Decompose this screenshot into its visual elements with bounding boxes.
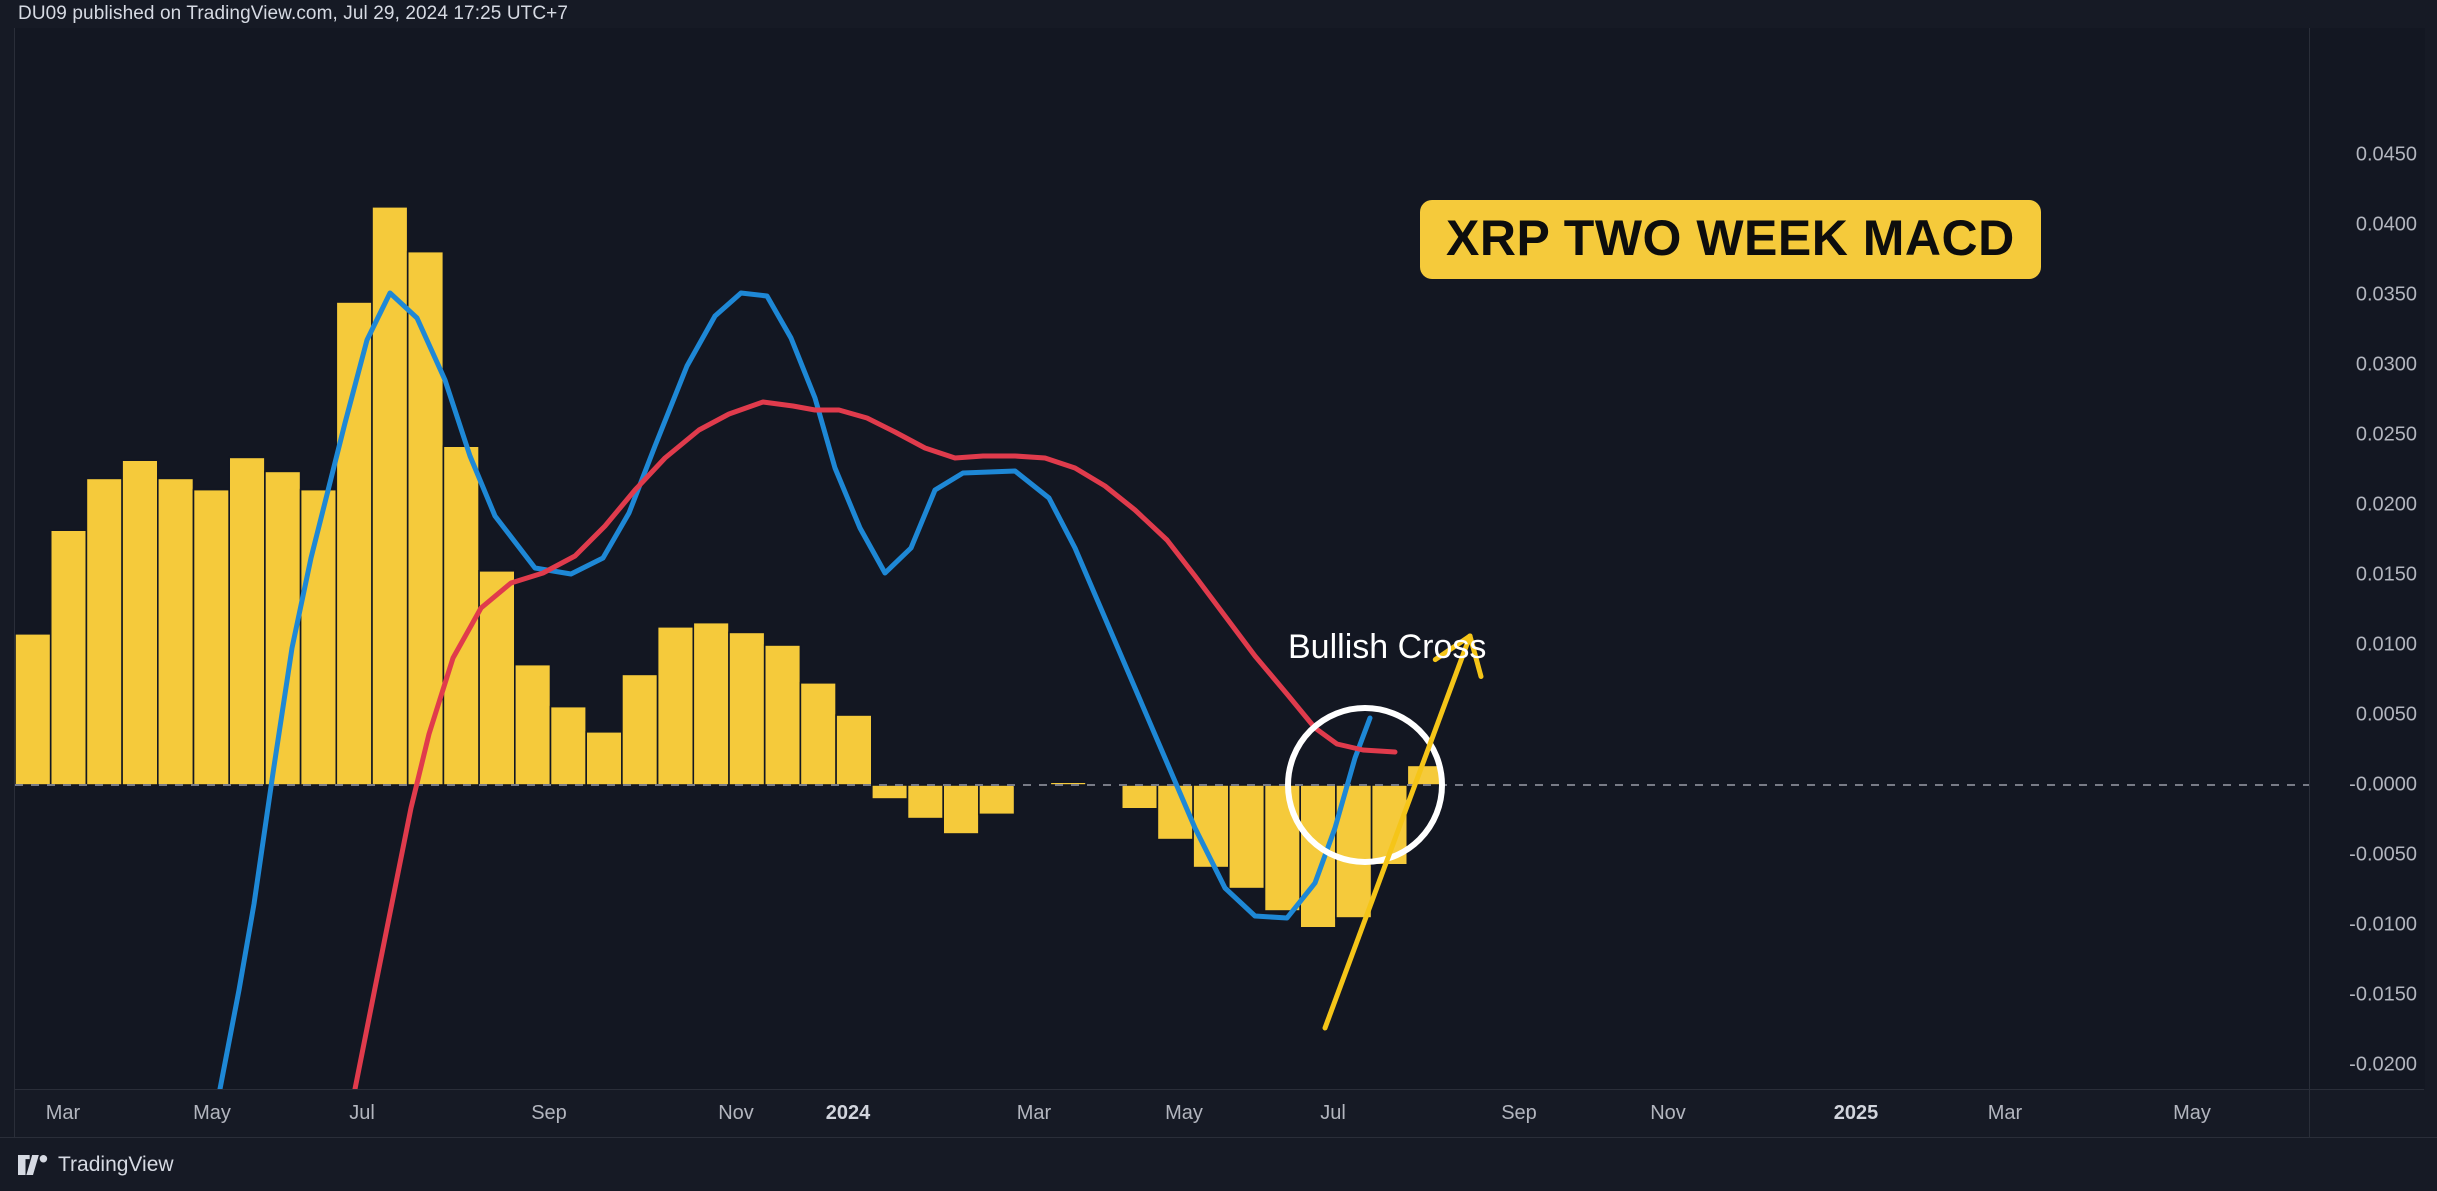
chart-screenshot: DU09 published on TradingView.com, Jul 2… xyxy=(0,0,2437,1190)
time-tick: May xyxy=(2173,1102,2211,1125)
time-scale[interactable]: MarMayJulSepNov2024MarMayJulSepNov2025Ma… xyxy=(14,1089,2424,1138)
plot-area[interactable] xyxy=(15,28,2309,1089)
price-tick: 0.0300 xyxy=(2356,354,2417,377)
time-tick: Nov xyxy=(718,1102,754,1125)
tradingview-logo-text: TradingView xyxy=(58,1153,174,1177)
price-tick: 0.0450 xyxy=(2356,144,2417,167)
time-tick: Jul xyxy=(1320,1102,1346,1125)
time-tick: Jul xyxy=(349,1102,375,1125)
price-tick: 0.0100 xyxy=(2356,634,2417,657)
bullish-cross-label: Bullish Cross xyxy=(1288,628,1486,667)
time-tick: May xyxy=(193,1102,231,1125)
price-tick: 0.0250 xyxy=(2356,424,2417,447)
price-tick: -0.0200 xyxy=(2349,1054,2417,1077)
bullish-cross-circle xyxy=(1288,708,1442,862)
price-scale[interactable]: 0.04500.04000.03500.03000.02500.02000.01… xyxy=(2309,28,2425,1089)
time-tick: Nov xyxy=(1650,1102,1686,1125)
time-tick: 2024 xyxy=(826,1102,871,1125)
tradingview-logo-icon xyxy=(18,1155,48,1175)
time-tick: Mar xyxy=(46,1102,80,1125)
projection-arrow-up xyxy=(1325,636,1481,1028)
annotation-shapes xyxy=(15,28,2309,1089)
price-tick: 0.0350 xyxy=(2356,284,2417,307)
time-tick: 2025 xyxy=(1834,1102,1879,1125)
time-tick: Sep xyxy=(531,1102,567,1125)
price-tick: -0.0100 xyxy=(2349,914,2417,937)
chart-title-badge: XRP TWO WEEK MACD xyxy=(1420,200,2041,279)
time-tick: Mar xyxy=(1017,1102,1051,1125)
price-tick: -0.0050 xyxy=(2349,844,2417,867)
footer-logo-bar: TradingView xyxy=(0,1137,2437,1191)
price-tick: -0.0000 xyxy=(2349,774,2417,797)
price-tick: 0.0400 xyxy=(2356,214,2417,237)
time-tick: May xyxy=(1165,1102,1203,1125)
time-tick: Mar xyxy=(1988,1102,2022,1125)
credit-bar: DU09 published on TradingView.com, Jul 2… xyxy=(0,0,2437,28)
price-tick: 0.0200 xyxy=(2356,494,2417,517)
publisher-credit: DU09 published on TradingView.com, Jul 2… xyxy=(0,3,568,25)
price-tick: -0.0150 xyxy=(2349,984,2417,1007)
chart-frame: 0.04500.04000.03500.03000.02500.02000.01… xyxy=(14,28,2424,1089)
price-tick: 0.0050 xyxy=(2356,704,2417,727)
price-tick: 0.0150 xyxy=(2356,564,2417,587)
time-scale-divider xyxy=(2309,1090,2310,1138)
time-tick: Sep xyxy=(1501,1102,1537,1125)
